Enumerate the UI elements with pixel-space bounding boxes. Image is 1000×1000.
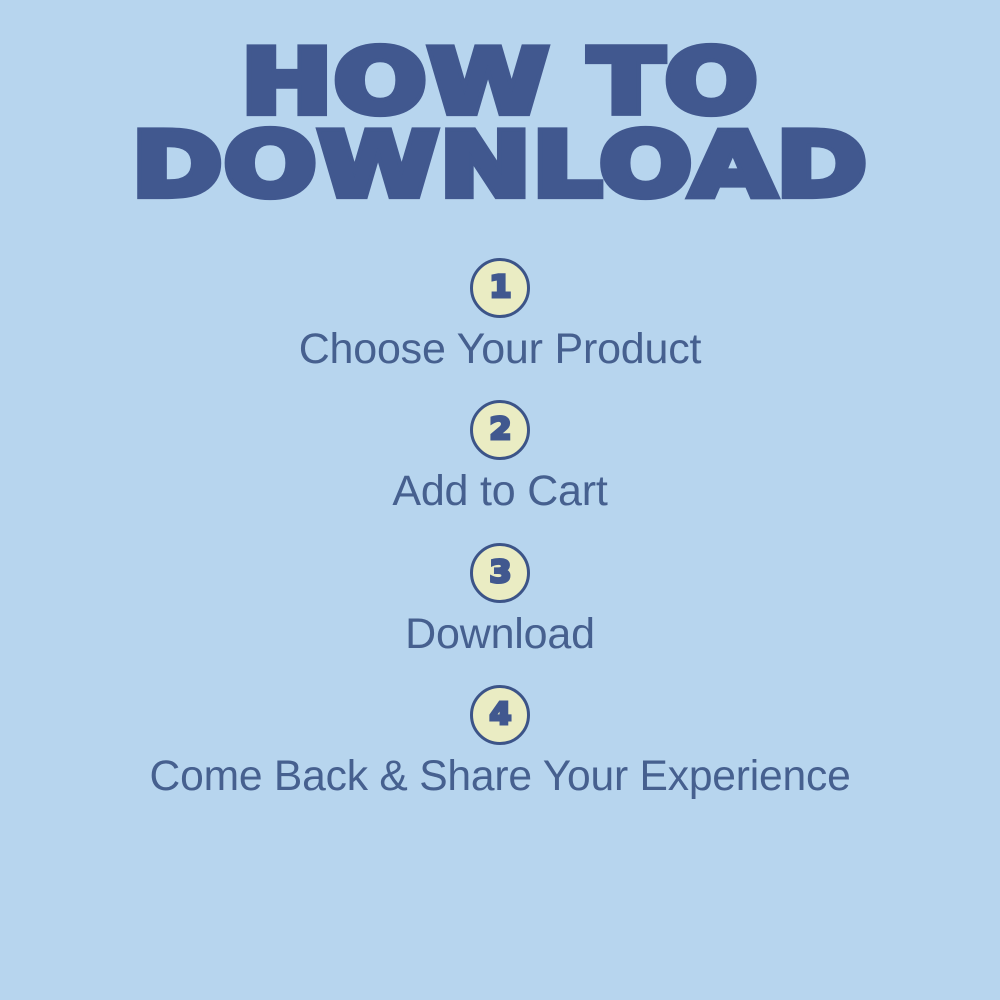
step-number-1: 1 [489,273,511,303]
step-label-1: Choose Your Product [299,326,702,372]
step-number-badge-1: 1 [470,258,530,318]
poster-title: HOW TO DOWNLOAD [0,42,1000,203]
step-number-badge-4: 4 [470,685,530,745]
step-item-2: 2 Add to Cart [0,400,1000,514]
step-number-2: 2 [489,415,511,445]
step-number-badge-2: 2 [470,400,530,460]
step-label-2: Add to Cart [392,468,607,514]
steps-list: 1 Choose Your Product 2 Add to Cart 3 Do… [0,258,1000,800]
step-number-3: 3 [489,558,511,588]
step-number-badge-3: 3 [470,543,530,603]
step-label-3: Download [405,611,595,657]
step-label-4: Come Back & Share Your Experience [149,753,850,799]
step-item-3: 3 Download [0,543,1000,657]
step-item-1: 1 Choose Your Product [0,258,1000,372]
how-to-download-poster: HOW TO DOWNLOAD 1 Choose Your Product 2 … [0,0,1000,1000]
step-number-4: 4 [489,700,511,730]
title-line-2: DOWNLOAD [0,125,1000,206]
title-line-1: HOW TO [0,42,1000,123]
step-item-4: 4 Come Back & Share Your Experience [0,685,1000,799]
